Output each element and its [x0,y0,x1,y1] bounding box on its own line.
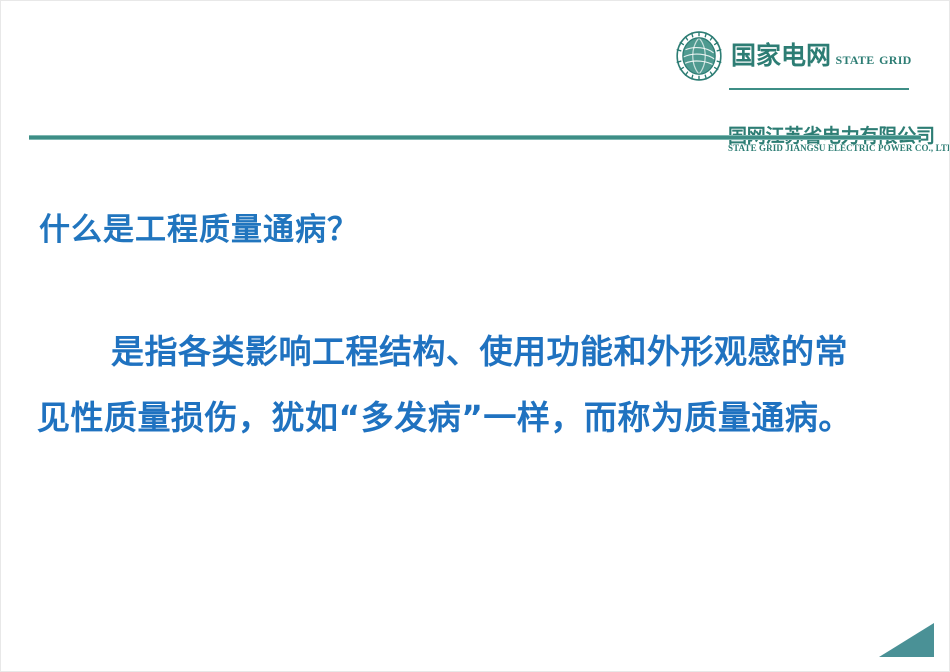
brand-header: 国家电网 State Grid 国网江苏省电力有限公司 STATE GRID J… [673,27,923,123]
state-grid-globe-emblem-icon [673,30,725,82]
brand-wordmark: 国家电网 State Grid [731,42,912,70]
brand-name-cn: 国家电网 [731,42,831,70]
header-divider-rule [29,135,921,140]
brand-primary-lockup: 国家电网 State Grid [673,27,923,85]
brand-separator-rule [729,88,909,90]
brand-name-en: State Grid [835,49,911,68]
paragraph-line: 见性质量损伤，犹如“多发病”一样，而称为质量通病。 [37,385,917,451]
slide-title: 什么是工程质量通病？ [39,204,359,249]
paragraph-line: 是指各类影响工程结构、使用功能和外形观感的常 [37,319,917,385]
slide-body-paragraph: 是指各类影响工程结构、使用功能和外形观感的常 见性质量损伤，犹如“多发病”一样，… [37,319,917,451]
corner-triangle-decoration [879,623,934,657]
subsidiary-name-en: STATE GRID JIANGSU ELECTRIC POWER CO., L… [728,143,950,153]
slide-canvas: 国家电网 State Grid 国网江苏省电力有限公司 STATE GRID J… [0,0,950,672]
